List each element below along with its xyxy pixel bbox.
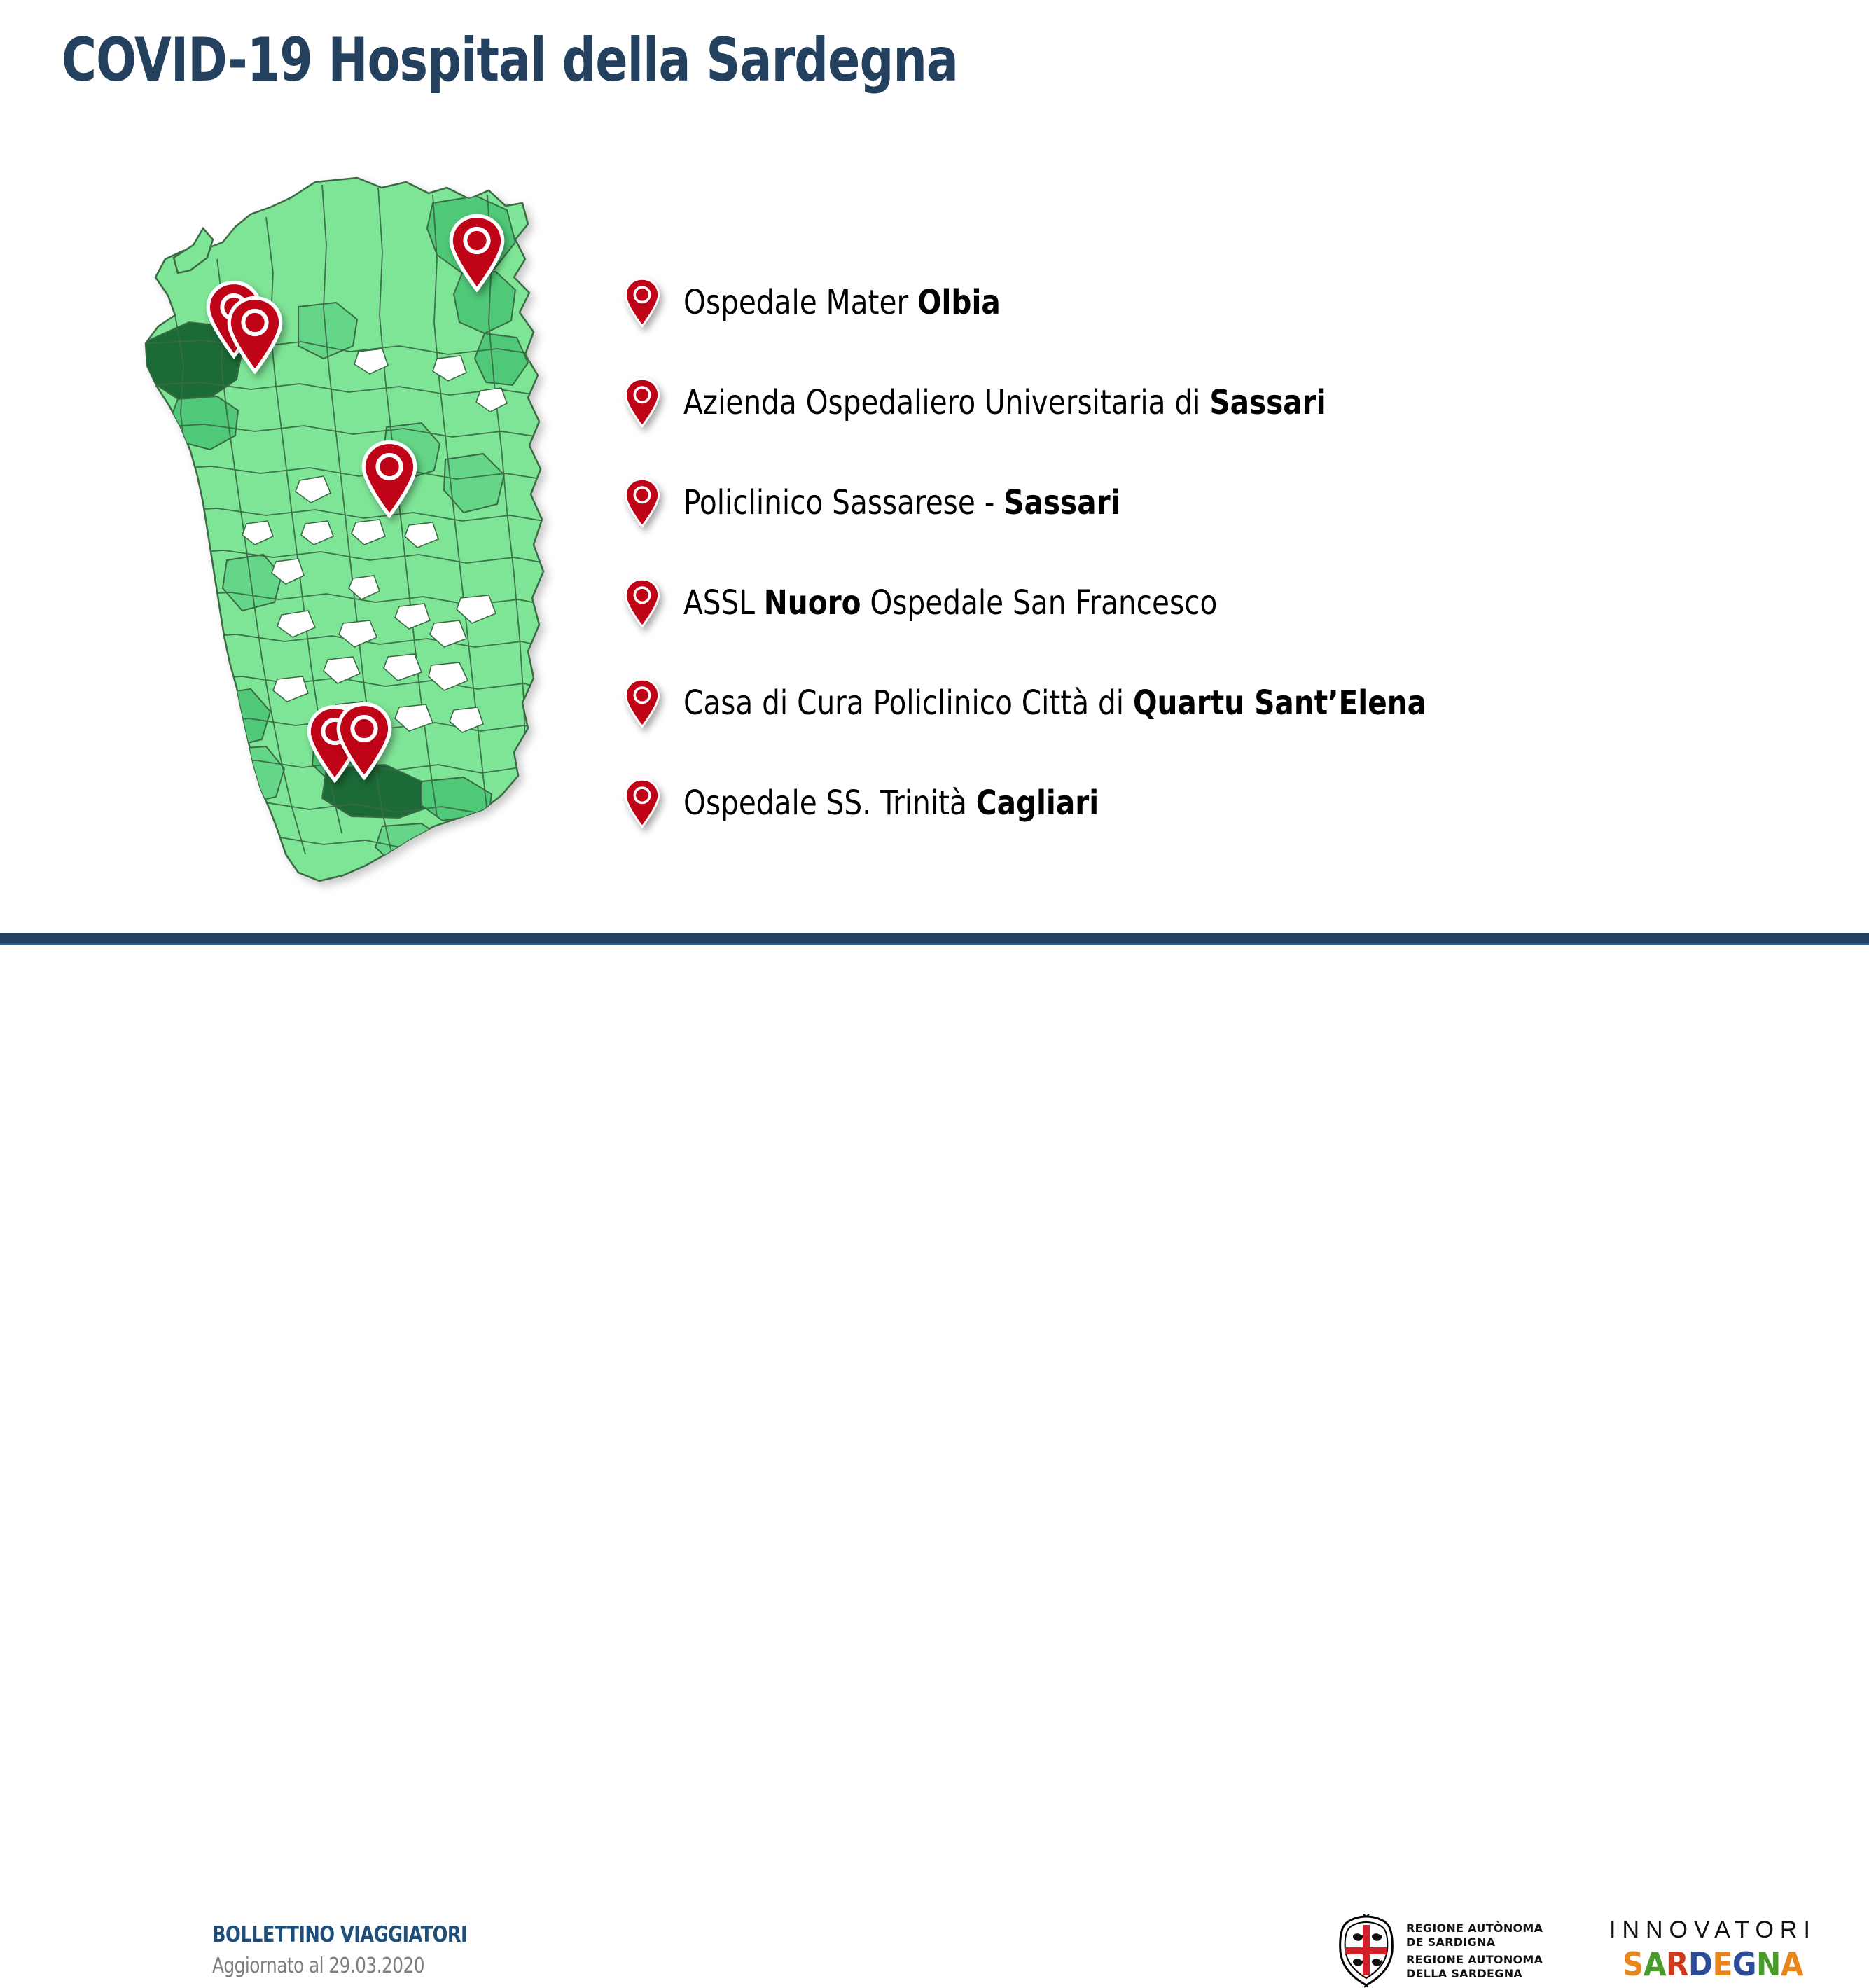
pin-nuoro[interactable] bbox=[360, 440, 419, 518]
list-item-label: Casa di Cura Policlinico Città di Quartu… bbox=[683, 683, 1426, 723]
footer: BOLLETTINO VIAGGIATORI Aggiornato al 29.… bbox=[0, 945, 1869, 1052]
sardegna-letter: S bbox=[1623, 1945, 1644, 1983]
footer-text-block: BOLLETTINO VIAGGIATORI Aggiornato al 29.… bbox=[212, 1922, 489, 1978]
list-item[interactable]: Casa di Cura Policlinico Città di Quartu… bbox=[623, 653, 1814, 753]
list-item-label: Azienda Ospedaliero Universitaria di Sas… bbox=[683, 383, 1326, 422]
pin-olbia[interactable] bbox=[447, 214, 506, 292]
footer-divider-bar bbox=[0, 933, 1869, 943]
list-item[interactable]: Ospedale Mater Olbia bbox=[623, 252, 1814, 352]
sardegna-word: SARDEGNA bbox=[1607, 1945, 1819, 1983]
list-item-label: Ospedale SS. Trinità Cagliari bbox=[683, 784, 1099, 823]
regione-line1: REGIONE AUTÒNOMA bbox=[1406, 1921, 1543, 1935]
list-item-label: ASSL Nuoro Ospedale San Francesco bbox=[683, 583, 1217, 623]
innovatori-word: INNOVATORI bbox=[1609, 1917, 1816, 1944]
aggiornato-label: Aggiornato al 29.03.2020 bbox=[212, 1954, 467, 1978]
map-pin-icon bbox=[360, 440, 419, 518]
sardegna-letter: D bbox=[1688, 1945, 1713, 1983]
hospital-list: Ospedale Mater Olbia Azienda Ospedaliero… bbox=[623, 252, 1814, 853]
sardegna-letter: N bbox=[1756, 1945, 1781, 1983]
list-item[interactable]: Azienda Ospedaliero Universitaria di Sas… bbox=[623, 352, 1814, 452]
pin-cagliari[interactable] bbox=[335, 702, 394, 780]
regione-text: REGIONE AUTÒNOMA DE SARDIGNA REGIONE AUT… bbox=[1406, 1921, 1543, 1981]
map-pin-icon bbox=[447, 214, 506, 292]
map-pin-icon bbox=[335, 702, 394, 780]
map-pin-icon bbox=[623, 478, 683, 528]
list-item-label: Ospedale Mater Olbia bbox=[683, 283, 1001, 322]
list-item[interactable]: Ospedale SS. Trinità Cagliari bbox=[623, 753, 1814, 853]
list-item-label: Policlinico Sassarese - Sassari bbox=[683, 483, 1120, 522]
sardegna-letter: E bbox=[1713, 1945, 1732, 1983]
map-pin-icon bbox=[623, 678, 683, 728]
regione-line2: DE SARDIGNA bbox=[1406, 1935, 1543, 1949]
map-pin-icon bbox=[623, 377, 683, 428]
map-pin-icon bbox=[623, 277, 683, 328]
innovatori-sardegna-logo: INNOVATORI SARDEGNA bbox=[1609, 1917, 1816, 1983]
sardegna-map bbox=[105, 175, 623, 917]
map-pin-icon bbox=[225, 296, 284, 374]
sardegna-letter: G bbox=[1732, 1945, 1756, 1983]
sardegna-coat-of-arms-icon bbox=[1336, 1914, 1396, 1988]
page-title: COVID-19 Hospital della Sardegna bbox=[62, 25, 958, 95]
map-svg bbox=[105, 175, 623, 917]
list-item[interactable]: ASSL Nuoro Ospedale San Francesco bbox=[623, 552, 1814, 653]
pin-sassari-2[interactable] bbox=[225, 296, 284, 374]
regione-sardegna-logo: REGIONE AUTÒNOMA DE SARDIGNA REGIONE AUT… bbox=[1336, 1914, 1543, 1988]
map-pin-icon bbox=[623, 578, 683, 628]
regione-line3: REGIONE AUTONOMA bbox=[1406, 1953, 1543, 1967]
bollettino-label: BOLLETTINO VIAGGIATORI bbox=[212, 1922, 467, 1947]
sardegna-letter: A bbox=[1644, 1945, 1666, 1983]
map-pin-icon bbox=[623, 778, 683, 828]
list-item[interactable]: Policlinico Sassarese - Sassari bbox=[623, 452, 1814, 552]
sardegna-letter: A bbox=[1781, 1945, 1803, 1983]
sardegna-letter: R bbox=[1666, 1945, 1688, 1983]
regione-line4: DELLA SARDEGNA bbox=[1406, 1967, 1543, 1981]
